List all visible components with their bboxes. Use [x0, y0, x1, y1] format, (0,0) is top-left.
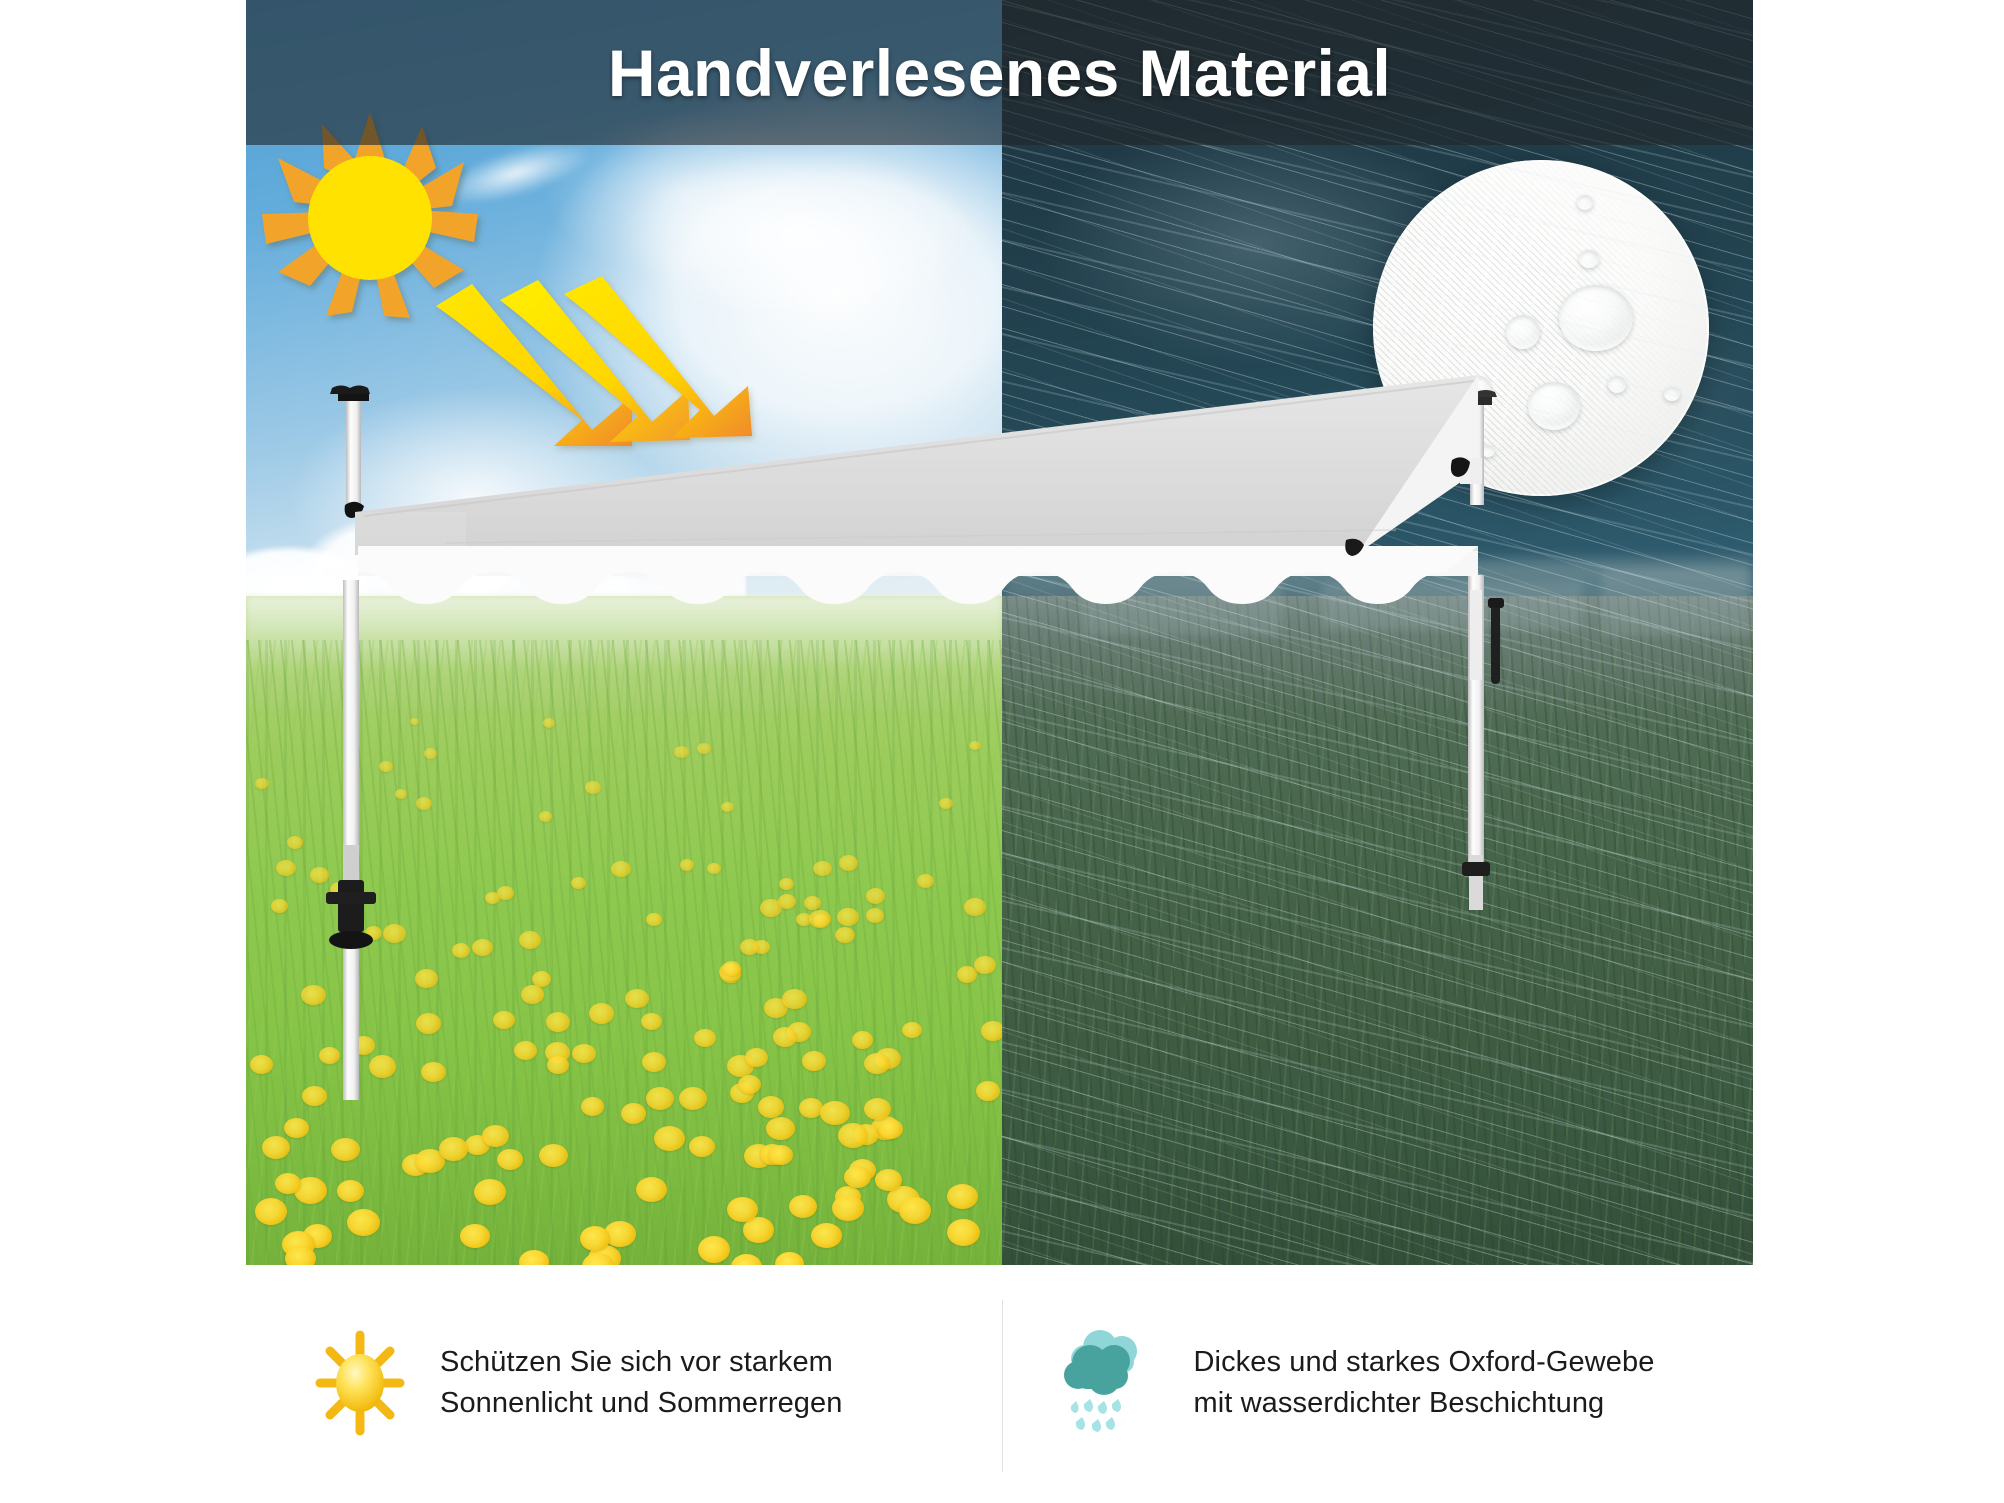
dandelion-flower: [642, 1052, 666, 1072]
water-droplets-closeup: [1373, 160, 1709, 496]
dandelion-flower: [539, 811, 552, 822]
dandelion-flower: [641, 1013, 662, 1030]
product-feature-image: Handverlesenes Material: [0, 0, 2004, 1503]
dandelion-flower: [899, 1197, 931, 1224]
dandelion-flower: [974, 956, 996, 974]
dandelion-flower: [811, 1223, 842, 1248]
caption-sun-text: Schützen Sie sich vor starkem Sonnenlich…: [440, 1342, 843, 1424]
dandelion-flower: [379, 761, 393, 772]
dandelion-flower: [547, 1056, 569, 1074]
dandelion-flower: [969, 741, 981, 750]
dandelion-flower: [832, 1195, 864, 1221]
dandelion-flower: [271, 899, 288, 913]
dandelion-flower: [802, 1051, 826, 1071]
dandelion-flower: [416, 797, 432, 810]
rain-cloud-icon: [1060, 1323, 1168, 1443]
dandelion-flower: [866, 908, 884, 923]
caption-sun: Schützen Sie sich vor starkem Sonnenlich…: [246, 1288, 1000, 1478]
dandelion-flower: [415, 969, 438, 988]
dandelion-flower: [571, 877, 586, 889]
dandelion-flower: [472, 939, 493, 956]
dandelion-flower: [580, 1226, 610, 1251]
dandelion-flower: [654, 1126, 685, 1151]
dandelion-flower: [813, 861, 832, 876]
dandelion-flower: [521, 985, 544, 1004]
dandelion-flower: [866, 888, 885, 904]
dandelion-flower: [585, 781, 601, 794]
dandelion-flower: [482, 1125, 509, 1147]
water-drop: [1467, 376, 1491, 398]
dandelion-flower: [285, 1246, 316, 1265]
dandelion-flower: [773, 1027, 797, 1047]
water-drop: [1528, 382, 1580, 430]
dandelion-flower: [424, 748, 437, 759]
dandelion-flower: [275, 1173, 301, 1194]
hero-image: Handverlesenes Material: [246, 0, 1753, 1265]
dandelion-flower: [543, 718, 555, 728]
dandelion-flower: [319, 1047, 340, 1064]
dandelion-flower: [383, 924, 406, 943]
dandelion-flower: [697, 743, 711, 754]
dandelion-flower: [689, 1136, 715, 1157]
dandelion-flower: [679, 1087, 707, 1110]
dandelion-flower: [611, 861, 631, 877]
dandelion-flower: [439, 1137, 468, 1161]
dandelion-flower: [722, 961, 741, 976]
dandelion-flower: [789, 1195, 817, 1218]
caption-strip: Schützen Sie sich vor starkem Sonnenlich…: [246, 1288, 1753, 1478]
dandelion-flower: [844, 1166, 871, 1188]
dandelion-flower: [838, 1123, 868, 1148]
dandelion-flower: [758, 1096, 784, 1118]
rainy-half: [1002, 0, 1753, 1265]
dandelion-flower: [947, 1184, 978, 1209]
dandelion-flower: [782, 989, 807, 1009]
dandelion-flower: [255, 1198, 287, 1225]
dandelion-flower: [707, 863, 721, 874]
background-building-2: [1322, 582, 1582, 630]
dandelion-flower: [835, 927, 855, 943]
dandelion-flower: [460, 1224, 490, 1248]
dandelion-flower: [976, 1081, 1000, 1101]
dandelion-flower: [674, 746, 689, 758]
background-building-3: [1602, 570, 1752, 636]
dandelion-flower: [636, 1177, 667, 1202]
water-drop: [1506, 315, 1540, 349]
dandelion-flower: [546, 1012, 570, 1032]
dandelion-flower: [939, 798, 953, 809]
dandelion-flower: [519, 931, 541, 949]
dandelion-flower: [646, 1087, 674, 1110]
dandelion-flower: [421, 1062, 446, 1082]
dandelion-flower: [485, 892, 500, 904]
dandelion-flower: [740, 939, 759, 955]
fabric-weave-texture: [1373, 160, 1709, 496]
dandelion-flower: [878, 1119, 903, 1139]
dandelion-flower: [589, 1003, 614, 1024]
dandelion-flower: [572, 1044, 596, 1063]
dandelion-flower: [875, 1169, 902, 1191]
background-building-1: [1082, 575, 1282, 635]
dandelion-flower: [539, 1144, 568, 1167]
dandelion-flower: [680, 859, 694, 871]
water-drop: [1559, 285, 1633, 351]
dandelion-flower: [474, 1179, 506, 1205]
dandelion-flower: [646, 913, 662, 926]
dandelion-flower: [287, 836, 303, 849]
water-drop: [1481, 445, 1495, 457]
sunny-half: [246, 0, 1002, 1265]
dandelion-flower: [347, 1209, 380, 1236]
dandelion-flower: [964, 898, 986, 916]
page-title: Handverlesenes Material: [246, 0, 1753, 145]
dandelion-flower: [738, 1075, 761, 1094]
dandelion-flower: [410, 718, 419, 725]
dandelion-flower: [745, 1048, 768, 1067]
dandelion-flower: [395, 789, 407, 799]
water-drop: [1579, 250, 1599, 268]
dandelion-flower: [352, 1036, 375, 1055]
caption-rain: Dickes und starkes Oxford-Gewebe mit was…: [1000, 1288, 1754, 1478]
dandelion-flower: [917, 874, 934, 888]
dandelion-flower: [310, 867, 329, 883]
dandelion-flower: [301, 985, 326, 1005]
dandelion-flower: [839, 855, 858, 871]
dandelion-flower: [621, 1103, 646, 1124]
dandelion-flower: [981, 1021, 1002, 1041]
dandelion-flower: [902, 1022, 922, 1038]
caption-rain-text: Dickes und starkes Oxford-Gewebe mit was…: [1194, 1342, 1655, 1424]
dandelion-flower: [864, 1098, 891, 1120]
dandelion-flower: [625, 989, 649, 1008]
dandelion-flower: [276, 860, 296, 876]
dandelion-flower: [416, 1013, 441, 1034]
dandelion-flower: [330, 882, 348, 897]
dandelion-flower: [284, 1118, 309, 1138]
dandelion-flower: [768, 1145, 793, 1165]
dandelion-flower: [514, 1041, 537, 1060]
dandelion-flower: [262, 1136, 290, 1159]
dandelion-flower: [947, 1219, 980, 1246]
dandelion-flower: [493, 1011, 515, 1029]
dandelion-flower: [255, 778, 269, 789]
dandelion-flower: [581, 1097, 604, 1116]
water-drop: [1449, 400, 1479, 427]
dandelion-flower: [694, 1029, 716, 1047]
sun-icon: [306, 1323, 414, 1443]
dandelion-flower: [302, 1086, 327, 1106]
dandelion-flower: [337, 1180, 364, 1202]
dandelion-flower: [331, 1138, 360, 1161]
dandelion-flower: [852, 1031, 873, 1049]
sun-rays-arrows-icon: [396, 270, 816, 520]
dandelion-flower: [497, 1149, 523, 1170]
dandelion-flower: [365, 926, 382, 940]
dandelion-flower: [250, 1055, 273, 1074]
dandelion-flower: [727, 1197, 758, 1222]
dandelion-flower: [820, 1101, 850, 1125]
dandelion-flower: [721, 802, 734, 812]
dandelion-flower: [779, 878, 794, 890]
dandelion-flower: [766, 1117, 795, 1140]
dandelion-flower: [864, 1053, 890, 1074]
dandelion-flower: [369, 1055, 396, 1078]
dandelion-flower: [698, 1236, 730, 1263]
dandelion-flower: [809, 910, 831, 928]
water-drop: [1608, 376, 1626, 393]
dandelion-flower: [760, 899, 782, 917]
water-drop: [1577, 195, 1593, 210]
dandelion-flower: [804, 896, 821, 910]
water-drop: [1664, 387, 1680, 401]
dandelion-flower: [452, 943, 470, 958]
dandelion-flower: [837, 908, 859, 926]
